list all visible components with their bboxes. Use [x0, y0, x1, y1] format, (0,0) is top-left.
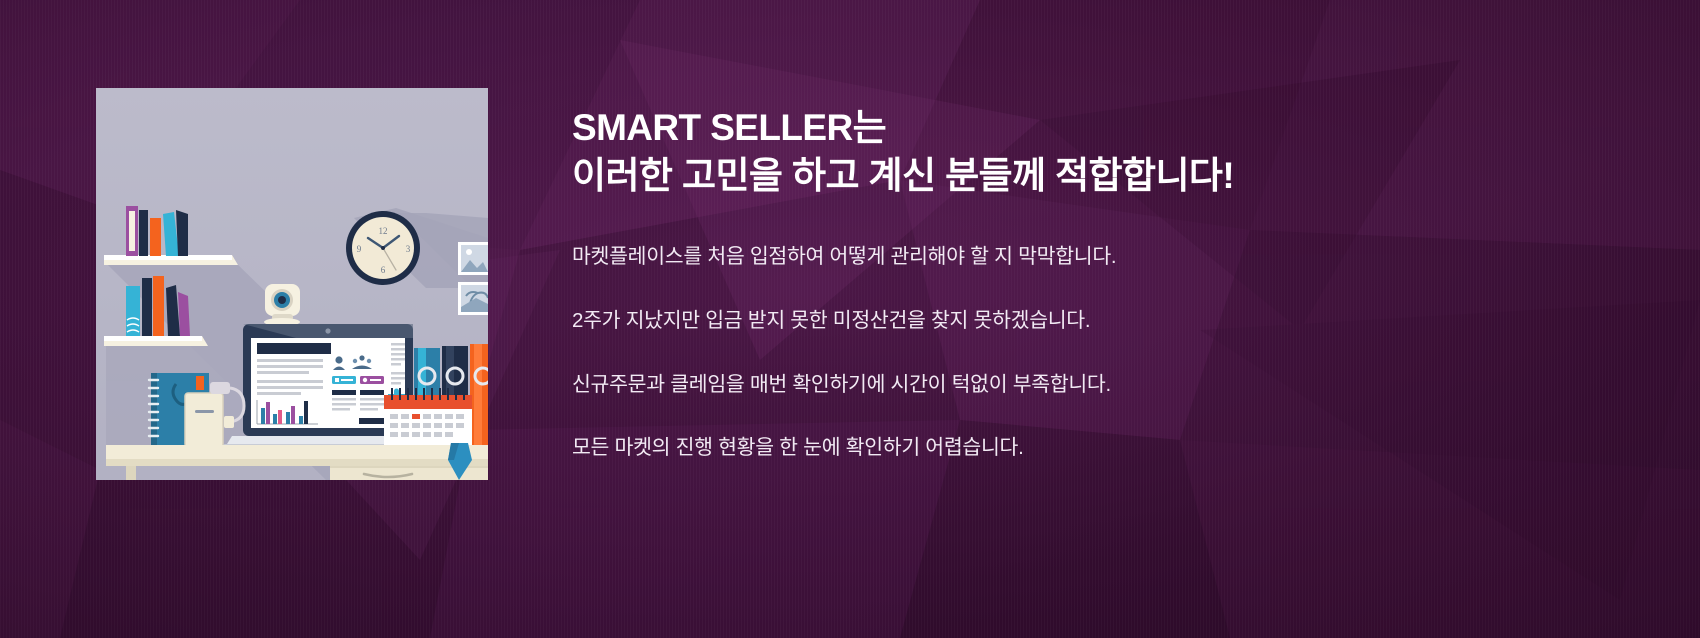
webcam — [264, 284, 300, 326]
bullet-list: 마켓플레이스를 처음 입점하여 어떻게 관리해야 할 지 막막합니다. 2주가 … — [572, 242, 1572, 464]
bullet-item: 신규주문과 클레임을 매번 확인하기에 시간이 턱없이 부족합니다. — [572, 370, 1572, 401]
picture-frame-top — [458, 242, 488, 275]
svg-text:3: 3 — [406, 244, 411, 254]
bullet-item: 2주가 지났지만 입금 받지 못한 미정산건을 찾지 못하겠습니다. — [572, 306, 1572, 337]
bullet-item: 모든 마켓의 진행 현황을 한 눈에 확인하기 어렵습니다. — [572, 433, 1572, 464]
headline-line-2: 이러한 고민을 하고 계신 분들께 적합합니다! — [572, 152, 1572, 200]
desk-calendar — [384, 388, 472, 447]
external-drive — [185, 393, 223, 447]
headline-line-1: SMART SELLER는 — [572, 104, 1572, 152]
workspace-illustration: 12 3 6 9 — [96, 88, 488, 480]
promo-banner: 12 3 6 9 — [0, 0, 1700, 638]
wall-clock: 12 3 6 9 — [346, 211, 420, 285]
bullet-item: 마켓플레이스를 처음 입점하여 어떻게 관리해야 할 지 막막합니다. — [572, 242, 1572, 273]
text-column: SMART SELLER는 이러한 고민을 하고 계신 분들께 적합합니다! 마… — [572, 104, 1572, 464]
svg-text:9: 9 — [357, 244, 362, 254]
svg-text:12: 12 — [379, 226, 388, 236]
svg-text:6: 6 — [381, 265, 386, 275]
picture-frame-bottom — [458, 282, 488, 315]
headline: SMART SELLER는 이러한 고민을 하고 계신 분들께 적합합니다! — [572, 104, 1572, 200]
